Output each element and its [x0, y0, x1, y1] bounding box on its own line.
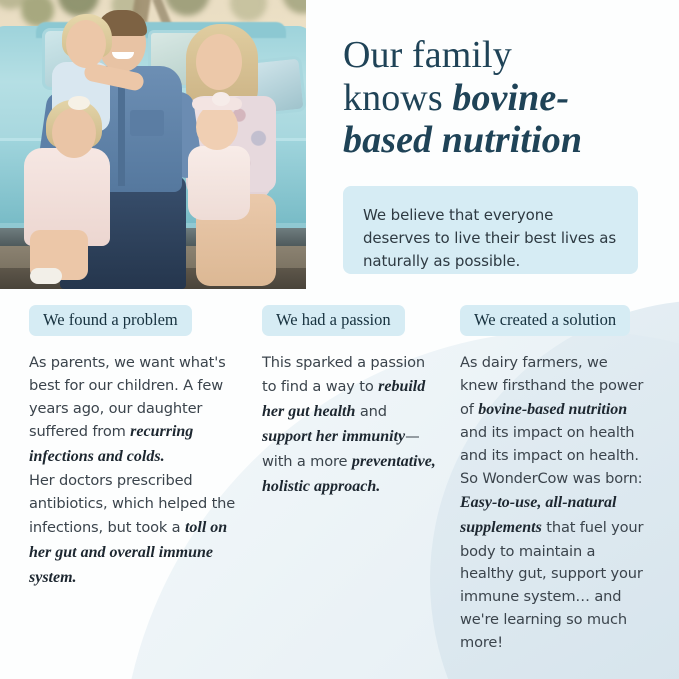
- story-column-solution: We created a solution As dairy farmers, …: [460, 305, 650, 655]
- emphasis-text: bovine-based nutrition: [478, 401, 627, 418]
- family-photo: [0, 0, 306, 289]
- column-paragraph: This sparked a passion to find a way to …: [262, 352, 437, 500]
- column-heading-pill: We created a solution: [460, 305, 630, 336]
- photo-older-daughter-head: [66, 20, 106, 68]
- plain-text: that fuel your body to maintain a health…: [460, 519, 643, 651]
- column-paragraph: As parents, we want what's best for our …: [29, 352, 244, 470]
- column-paragraph: Her doctors prescribed antibiotics, whic…: [29, 470, 244, 590]
- plain-text: and its impact on health and its impact …: [460, 424, 642, 487]
- photo-father-shirt-pocket: [130, 110, 164, 136]
- column-heading-pill: We found a problem: [29, 305, 192, 336]
- photo-younger-daughter-head: [52, 108, 96, 158]
- story-column-passion: We had a passion This sparked a passion …: [262, 305, 437, 500]
- photo-baby-head: [196, 104, 238, 150]
- story-column-problem: We found a problem As parents, we want w…: [29, 305, 244, 591]
- column-body-text: This sparked a passion to find a way to …: [262, 352, 437, 500]
- belief-callout-box: We believe that everyone deserves to liv…: [343, 186, 638, 274]
- photo-baby-headband-bow: [212, 92, 230, 106]
- column-paragraph: As dairy farmers, we knew firsthand the …: [460, 352, 650, 655]
- headline-line-1: Our family: [343, 34, 512, 76]
- photo-father-smile: [112, 52, 134, 59]
- headline-line-2-plain: knows: [343, 77, 452, 119]
- belief-callout-text: We believe that everyone deserves to liv…: [363, 204, 618, 272]
- photo-baby-body: [188, 146, 250, 220]
- plain-text: As parents, we want what's best for our …: [29, 354, 226, 440]
- plain-text: and: [355, 403, 387, 420]
- photo-mother-head: [196, 34, 242, 90]
- column-body-text: As dairy farmers, we knew firsthand the …: [460, 352, 650, 655]
- emphasis-text: support her immunity: [262, 428, 405, 445]
- infographic-canvas: Our family knows bovine- based nutrition…: [0, 0, 679, 679]
- column-heading-pill: We had a passion: [262, 305, 405, 336]
- headline-line-2-emphasis: bovine-: [452, 77, 569, 119]
- photo-younger-daughter-hair-bow: [68, 96, 90, 110]
- headline-line-3-emphasis: based nutrition: [343, 119, 582, 161]
- column-body-text: As parents, we want what's best for our …: [29, 352, 244, 591]
- page-headline: Our family knows bovine- based nutrition: [343, 34, 653, 162]
- photo-younger-daughter-shoe: [30, 268, 62, 284]
